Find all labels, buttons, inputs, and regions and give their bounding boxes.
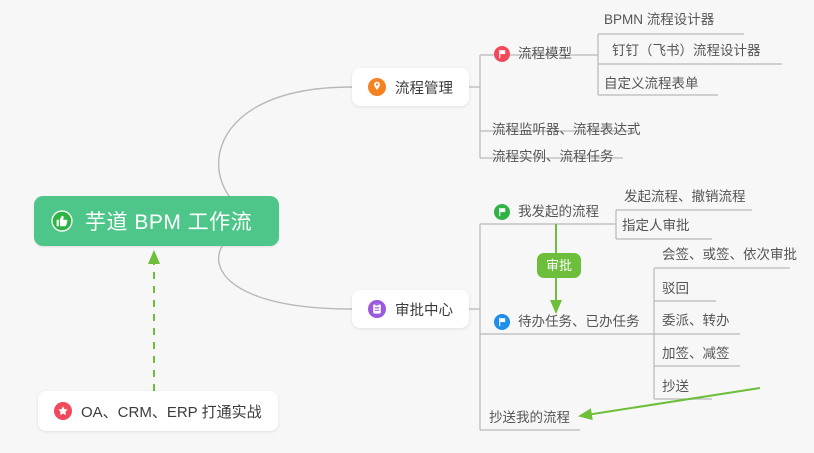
mindmap-canvas: 芋道 BPM 工作流 流程管理 审批中心 [0, 0, 814, 453]
leaf-label: 委派、转办 [662, 314, 730, 328]
note-node-oa-crm-erp[interactable]: OA、CRM、ERP 打通实战 [38, 391, 278, 431]
leaf-label: 发起流程、撤销流程 [624, 190, 746, 204]
badge-label: 审批 [546, 258, 572, 273]
root-label: 芋道 BPM 工作流 [85, 206, 252, 236]
leaf-label: 会签、或签、依次审批 [662, 248, 797, 262]
leaf-label: 流程监听器、流程表达式 [492, 123, 641, 137]
branch-node-approval-center[interactable]: 审批中心 [352, 290, 469, 328]
leaf-label: 抄送我的流程 [489, 411, 570, 425]
branch-node-flow-management[interactable]: 流程管理 [352, 68, 469, 106]
leaf-node-process-instance[interactable]: 流程实例、流程任务 [492, 150, 614, 164]
leaf-node-cc[interactable]: 抄送 [662, 380, 689, 394]
leaf-node-add-remove-sign[interactable]: 加签、减签 [662, 347, 730, 361]
badge-approval[interactable]: 审批 [537, 253, 581, 278]
leaf-node-assigned-approver[interactable]: 指定人审批 [622, 219, 690, 233]
leaf-label: 流程模型 [518, 47, 572, 61]
flag-icon [494, 204, 510, 220]
leaf-node-process-model[interactable]: 流程模型 [494, 46, 572, 62]
leaf-label: 加签、减签 [662, 347, 730, 361]
branch-label: 流程管理 [395, 77, 453, 98]
leaf-label: BPMN 流程设计器 [604, 13, 714, 27]
leaf-node-start-cancel-process[interactable]: 发起流程、撤销流程 [624, 190, 746, 204]
leaf-label: 抄送 [662, 380, 689, 394]
leaf-node-custom-form[interactable]: 自定义流程表单 [604, 77, 699, 91]
location-pin-icon [368, 78, 386, 96]
leaf-label: 自定义流程表单 [604, 77, 699, 91]
branch-label: 审批中心 [395, 299, 453, 320]
leaf-node-reject[interactable]: 驳回 [662, 282, 689, 296]
flag-icon [494, 46, 510, 62]
leaf-node-bpmn-designer[interactable]: BPMN 流程设计器 [604, 13, 714, 27]
note-label: OA、CRM、ERP 打通实战 [81, 401, 262, 422]
leaf-label: 待办任务、已办任务 [518, 315, 640, 329]
leaf-label: 指定人审批 [622, 219, 690, 233]
leaf-node-countersign[interactable]: 会签、或签、依次审批 [662, 248, 797, 262]
leaf-label: 流程实例、流程任务 [492, 150, 614, 164]
leaf-node-delegate-transfer[interactable]: 委派、转办 [662, 314, 730, 328]
flag-icon [494, 314, 510, 330]
leaf-node-cc-to-me-process[interactable]: 抄送我的流程 [489, 411, 570, 425]
leaf-node-dingtalk-feishu-designer[interactable]: 钉钉（飞书）流程设计器 [612, 44, 761, 58]
leaf-node-my-initiated-process[interactable]: 我发起的流程 [494, 204, 599, 220]
leaf-label: 我发起的流程 [518, 205, 599, 219]
clipboard-icon [368, 300, 386, 318]
thumbs-up-icon [50, 209, 74, 233]
root-node[interactable]: 芋道 BPM 工作流 [34, 196, 279, 246]
leaf-node-process-listener[interactable]: 流程监听器、流程表达式 [492, 123, 641, 137]
leaf-label: 驳回 [662, 282, 689, 296]
leaf-label: 钉钉（飞书）流程设计器 [612, 44, 761, 58]
leaf-node-todo-done-tasks[interactable]: 待办任务、已办任务 [494, 314, 640, 330]
star-icon [54, 402, 72, 420]
